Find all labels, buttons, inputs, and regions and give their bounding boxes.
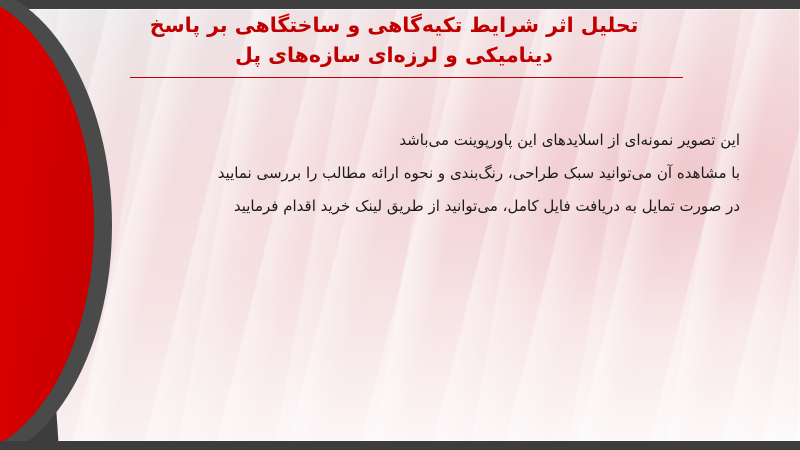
body-line-2: با مشاهده آن می‌توانید سبک طراحی، رنگ‌بن… xyxy=(100,157,740,190)
slide-content-panel xyxy=(0,9,800,441)
panel-texture-overlay xyxy=(0,9,800,441)
slide-title: تحلیل اثر شرایط تکیه‌گاهی و ساختگاهی بر … xyxy=(84,10,704,70)
slide-title-line-1: تحلیل اثر شرایط تکیه‌گاهی و ساختگاهی بر … xyxy=(84,10,704,40)
title-underline-rule xyxy=(130,77,683,78)
slide-bottom-border xyxy=(0,441,800,450)
presentation-slide: تحلیل اثر شرایط تکیه‌گاهی و ساختگاهی بر … xyxy=(0,0,800,450)
body-line-1: این تصویر نمونه‌ای از اسلایدهای این پاور… xyxy=(100,124,740,157)
slide-body-text: این تصویر نمونه‌ای از اسلایدهای این پاور… xyxy=(100,124,740,223)
body-line-3: در صورت تمایل به دریافت فایل کامل، می‌تو… xyxy=(100,190,740,223)
slide-title-line-2: دینامیکی و لرزه‌ای سازه‌های پل xyxy=(84,40,704,70)
